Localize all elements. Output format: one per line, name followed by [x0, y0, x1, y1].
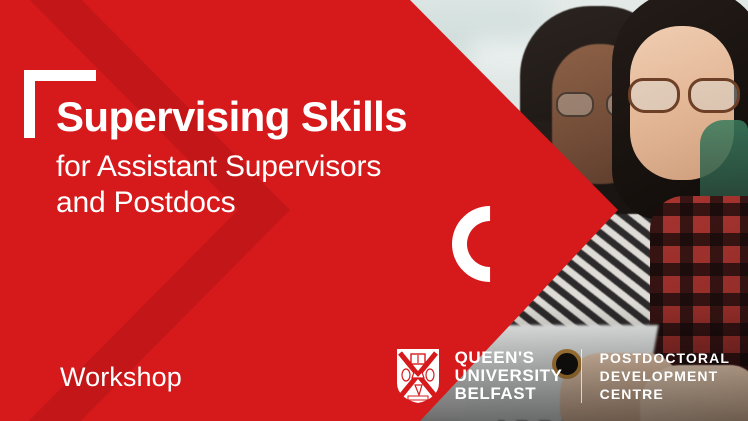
logo-divider	[581, 349, 582, 403]
university-name-line-2: UNIVERSITY	[455, 367, 563, 385]
centre-name-line-3: CENTRE	[600, 385, 730, 403]
centre-name-line-2: DEVELOPMENT	[600, 367, 730, 385]
headline-block: Supervising Skills for Assistant Supervi…	[56, 96, 526, 222]
university-name-line-1: QUEEN'S	[455, 349, 563, 367]
page-subtitle: for Assistant Supervisors and Postdocs	[56, 149, 526, 222]
centre-name-line-1: POSTDOCTORAL	[600, 349, 730, 367]
university-name: QUEEN'S UNIVERSITY BELFAST	[455, 349, 563, 403]
subtitle-line-2: and Postdocs	[56, 185, 526, 222]
centre-name: POSTDOCTORAL DEVELOPMENT CENTRE	[600, 349, 730, 404]
subtitle-line-1: for Assistant Supervisors	[56, 149, 526, 186]
promo-banner: Supervising Skills for Assistant Supervi…	[0, 0, 748, 421]
logo-lockup: QUEEN'S UNIVERSITY BELFAST POSTDOCTORAL …	[395, 347, 730, 405]
university-name-line-3: BELFAST	[455, 385, 563, 403]
queens-university-crest-icon	[395, 347, 441, 405]
page-title: Supervising Skills	[56, 96, 526, 139]
person-two-glasses	[628, 78, 740, 108]
event-type-label: Workshop	[60, 362, 182, 393]
